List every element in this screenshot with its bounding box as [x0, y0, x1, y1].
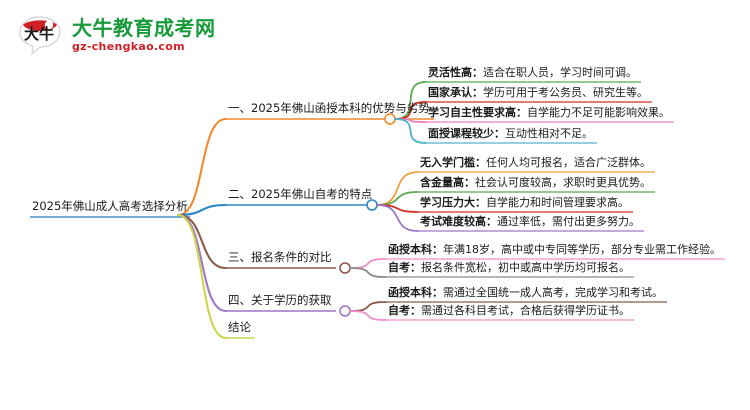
leaf-node-3-1[interactable]: 函授本科：年满18岁，高中或中专同等学历，部分专业需工作经验。: [388, 244, 721, 257]
node-text: 二、2025年佛山自考的特点: [228, 187, 372, 201]
branch-node-3[interactable]: 三、报名条件的对比: [228, 251, 332, 264]
node-text: 社会认可度较高，求职时更具优势。: [475, 176, 651, 189]
leaf-node-1-1[interactable]: 灵活性高：适合在职人员，学习时间可调。: [428, 67, 637, 80]
node-text: 学历可用于考公务员、研究生等。: [483, 86, 648, 99]
node-text: 结论: [228, 320, 251, 334]
node-lead: 学习自主性要求高：: [428, 106, 527, 119]
node-text: 需通过全国统一成人高考，完成学习和考试。: [443, 286, 663, 299]
leaf-node-4-1[interactable]: 函授本科：需通过全国统一成人高考，完成学习和考试。: [388, 287, 663, 300]
node-text: 通过率低，需付出更多努力。: [497, 215, 640, 228]
node-text: 三、报名条件的对比: [228, 250, 332, 264]
node-lead: 自考：: [388, 304, 421, 317]
root-node[interactable]: 2025年佛山成人高考选择分析: [32, 200, 188, 213]
node-lead: 国家承认：: [428, 86, 483, 99]
leaf-node-1-4[interactable]: 面授课程较少：互动性相对不足。: [428, 128, 593, 141]
leaf-node-2-3[interactable]: 学习压力大：自学能力和时间管理要求高。: [420, 197, 629, 210]
node-lead: 函授本科：: [388, 243, 443, 256]
node-text: 互动性相对不足。: [505, 127, 593, 140]
branch-node-5[interactable]: 结论: [228, 321, 251, 334]
node-text: 适合在职人员，学习时间可调。: [483, 66, 637, 79]
node-lead: 灵活性高：: [428, 66, 483, 79]
leaf-node-1-3[interactable]: 学习自主性要求高：自学能力不足可能影响效果。: [428, 107, 670, 120]
node-text: 报名条件宽松，初中或高中学历均可报名。: [421, 261, 630, 274]
node-lead: 面授课程较少：: [428, 127, 505, 140]
node-lead: 考试难度较高：: [420, 215, 497, 228]
node-text: 年满18岁，高中或中专同等学历，部分专业需工作经验。: [443, 243, 721, 256]
node-text: 一、2025年佛山函授本科的优势与劣势: [228, 101, 430, 115]
node-text: 需通过各科目考试，合格后获得学历证书。: [421, 304, 630, 317]
node-text: 四、关于学历的获取: [228, 293, 332, 307]
branch-node-4[interactable]: 四、关于学历的获取: [228, 294, 332, 307]
node-text: 自学能力和时间管理要求高。: [486, 196, 629, 209]
node-lead: 学习压力大：: [420, 196, 486, 209]
branch-node-2[interactable]: 二、2025年佛山自考的特点: [228, 188, 372, 201]
branch-node-1[interactable]: 一、2025年佛山函授本科的优势与劣势: [228, 102, 430, 115]
node-text: 任何人均可报名，适合广泛群体。: [486, 156, 651, 169]
node-lead: 函授本科：: [388, 286, 443, 299]
leaf-node-2-4[interactable]: 考试难度较高：通过率低，需付出更多努力。: [420, 216, 640, 229]
node-lead: 自考：: [388, 261, 421, 274]
leaf-node-1-2[interactable]: 国家承认：学历可用于考公务员、研究生等。: [428, 87, 648, 100]
leaf-node-2-2[interactable]: 含金量高：社会认可度较高，求职时更具优势。: [420, 177, 651, 190]
node-lead: 无入学门槛：: [420, 156, 486, 169]
node-text: 2025年佛山成人高考选择分析: [32, 199, 188, 213]
mindmap-canvas: 2025年佛山成人高考选择分析一、2025年佛山函授本科的优势与劣势灵活性高：适…: [0, 0, 750, 410]
leaf-node-3-2[interactable]: 自考：报名条件宽松，初中或高中学历均可报名。: [388, 262, 630, 275]
node-text: 自学能力不足可能影响效果。: [527, 106, 670, 119]
leaf-node-2-1[interactable]: 无入学门槛：任何人均可报名，适合广泛群体。: [420, 157, 651, 170]
node-lead: 含金量高：: [420, 176, 475, 189]
leaf-node-4-2[interactable]: 自考：需通过各科目考试，合格后获得学历证书。: [388, 305, 630, 318]
